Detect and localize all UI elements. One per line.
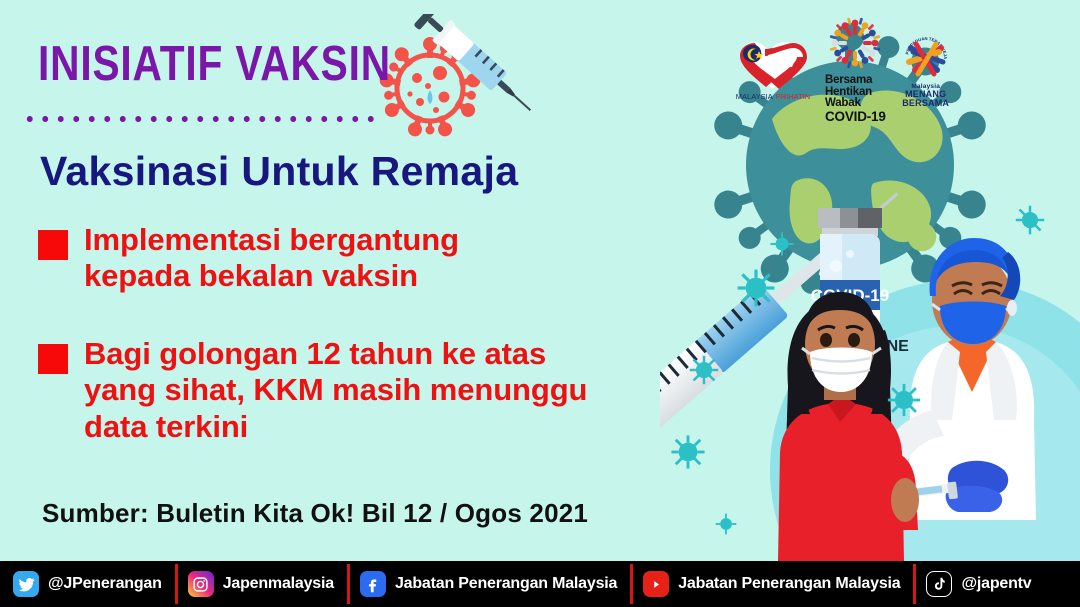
menang-line2: BERSAMA <box>902 99 949 108</box>
bullet-square-icon <box>38 344 68 374</box>
heart-flag-icon <box>735 39 811 91</box>
social-label: Jabatan Penerangan Malaysia <box>395 575 617 593</box>
logo-malaysia-menang-bersama: PERPADUAN TERAS KEJAYAAN Mala <box>900 32 952 108</box>
social-label: Japenmalaysia <box>223 575 334 593</box>
woven-ribbon-icon: PERPADUAN TERAS KEJAYAAN <box>900 32 952 82</box>
bullet-text: Bagi golongan 12 tahun ke atasyang sihat… <box>84 336 587 445</box>
social-item-twitter[interactable]: @JPenerangan <box>0 561 175 607</box>
source-note: Sumber: Buletin Kita Ok! Bil 12 / Ogos 2… <box>42 498 588 529</box>
bh-line1: Bersama <box>825 75 886 87</box>
social-item-tiktok[interactable]: @japentv <box>913 561 1044 607</box>
virus-syringe-icon <box>372 14 532 140</box>
social-media-bar: @JPenerangan Japenmalaysia Jabatan Pener… <box>0 561 1080 607</box>
page-kicker: INISIATIF VAKSIN <box>38 36 391 92</box>
facebook-icon <box>360 571 386 597</box>
bh-line4: COVID-19 <box>825 110 886 124</box>
logo-bersama-hentikan-wabak: Bersama Hentikan Wabak COVID-19 <box>825 16 886 124</box>
social-item-youtube[interactable]: Jabatan Penerangan Malaysia <box>630 561 913 607</box>
bullet-text: Implementasi bergantungkepada bekalan va… <box>84 222 459 295</box>
tiktok-icon <box>926 571 952 597</box>
bullet-square-icon <box>38 230 68 260</box>
social-label: Jabatan Penerangan Malaysia <box>678 575 900 593</box>
dotted-divider <box>22 112 377 126</box>
poster: COVID-19 10ml VACCINE <box>0 0 1080 607</box>
social-item-facebook[interactable]: Jabatan Penerangan Malaysia <box>347 561 630 607</box>
partner-logos: MALAYSIA PRIHATIN <box>735 26 1080 114</box>
prihatin-word-a: MALAYSIA <box>736 92 773 101</box>
youtube-icon <box>643 571 669 597</box>
social-item-instagram[interactable]: Japenmalaysia <box>175 561 347 607</box>
prihatin-word-b: PRIHATIN <box>776 92 810 101</box>
logo-malaysia-prihatin: MALAYSIA PRIHATIN <box>735 39 811 101</box>
page-heading: Vaksinasi Untuk Remaja <box>40 148 518 195</box>
bullet-item: Bagi golongan 12 tahun ke atasyang sihat… <box>38 336 587 445</box>
social-label: @japentv <box>961 575 1031 593</box>
instagram-icon <box>188 571 214 597</box>
people-ring-icon <box>828 16 882 70</box>
social-label: @JPenerangan <box>48 575 162 593</box>
bullet-item: Implementasi bergantungkepada bekalan va… <box>38 222 459 295</box>
twitter-icon <box>13 571 39 597</box>
